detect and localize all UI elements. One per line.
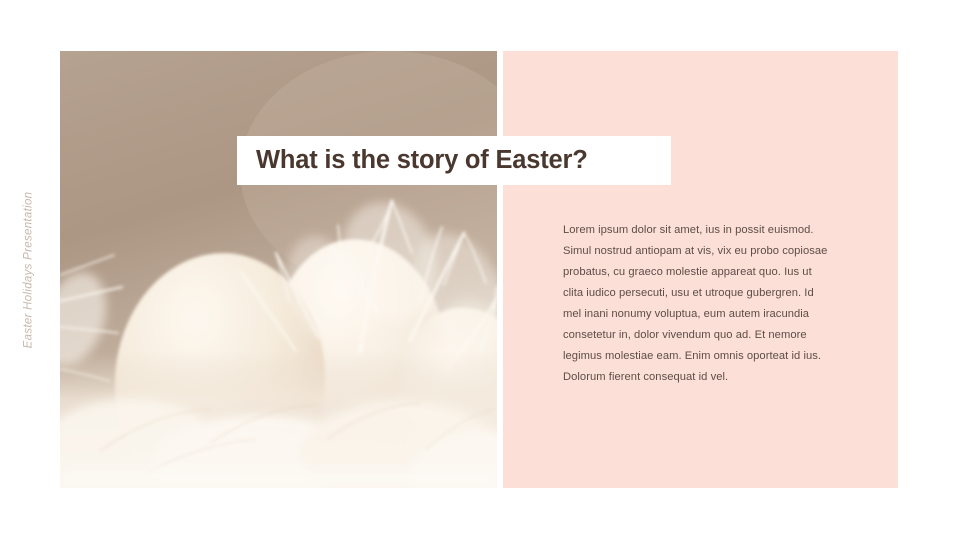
body-line: clita iudico persecuti, usu et utroque g… (563, 283, 863, 304)
body-line: probatus, cu graeco molestie appareat qu… (563, 262, 863, 283)
body-line: Dolorum fierent consequat id vel. (563, 367, 863, 388)
slide-title: What is the story of Easter? (237, 146, 588, 175)
body-line: mel inani nonumy voluptua, eum autem ira… (563, 304, 863, 325)
easter-eggs-photo (60, 51, 497, 488)
body-line: Simul nostrud antiopam at vis, vix eu pr… (563, 241, 863, 262)
body-line: consetetur in, dolor vivendum quo ad. Et… (563, 325, 863, 346)
body-line: legimus molestiae eam. Enim omnis oporte… (563, 346, 863, 367)
easter-eggs-photo-graphic (60, 51, 497, 488)
vertical-slide-label-text: Easter Holidays Presentation (22, 192, 34, 349)
presentation-slide: Easter Holidays Presentation (0, 0, 960, 540)
body-copy: Lorem ipsum dolor sit amet, ius in possi… (563, 220, 863, 388)
body-line: Lorem ipsum dolor sit amet, ius in possi… (563, 220, 863, 241)
vertical-slide-label: Easter Holidays Presentation (0, 0, 56, 540)
title-plate: What is the story of Easter? (237, 136, 671, 185)
